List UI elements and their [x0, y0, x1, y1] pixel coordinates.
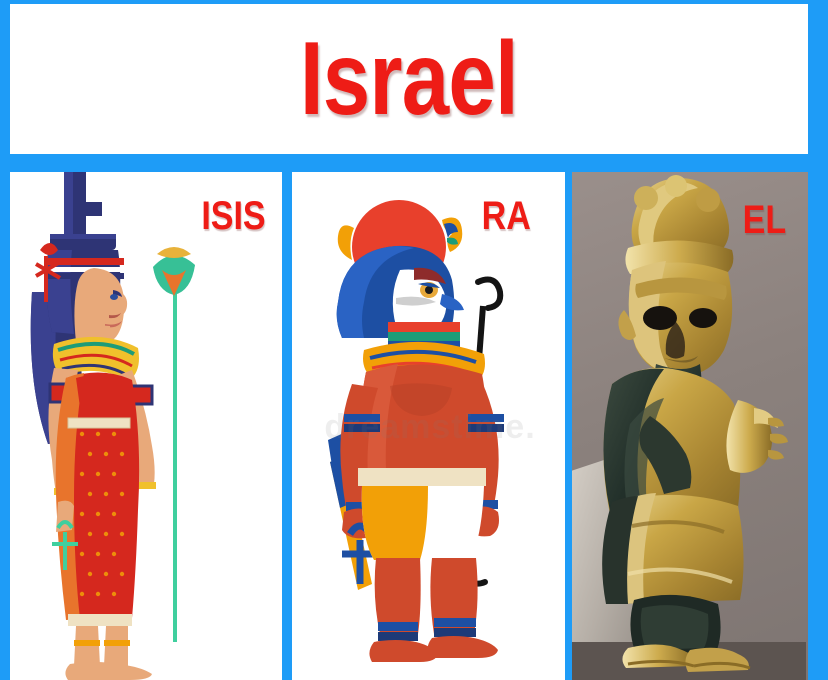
page-title: Israel	[300, 27, 518, 131]
ra-illustration	[292, 172, 565, 680]
panel-el[interactable]: EL	[572, 172, 808, 680]
panel-ra[interactable]: dreamstime. RA	[292, 172, 565, 680]
panel-label-el: EL	[743, 200, 786, 240]
el-statue-photo	[572, 172, 808, 680]
panel-label-isis: ISIS	[202, 196, 266, 236]
deity-panel-row: ISIS	[0, 172, 828, 680]
isis-illustration	[10, 172, 282, 680]
panel-label-ra: RA	[482, 196, 531, 236]
title-card: Israel	[10, 4, 808, 154]
panel-isis[interactable]: ISIS	[10, 172, 282, 680]
poster-root: Israel	[0, 0, 828, 680]
